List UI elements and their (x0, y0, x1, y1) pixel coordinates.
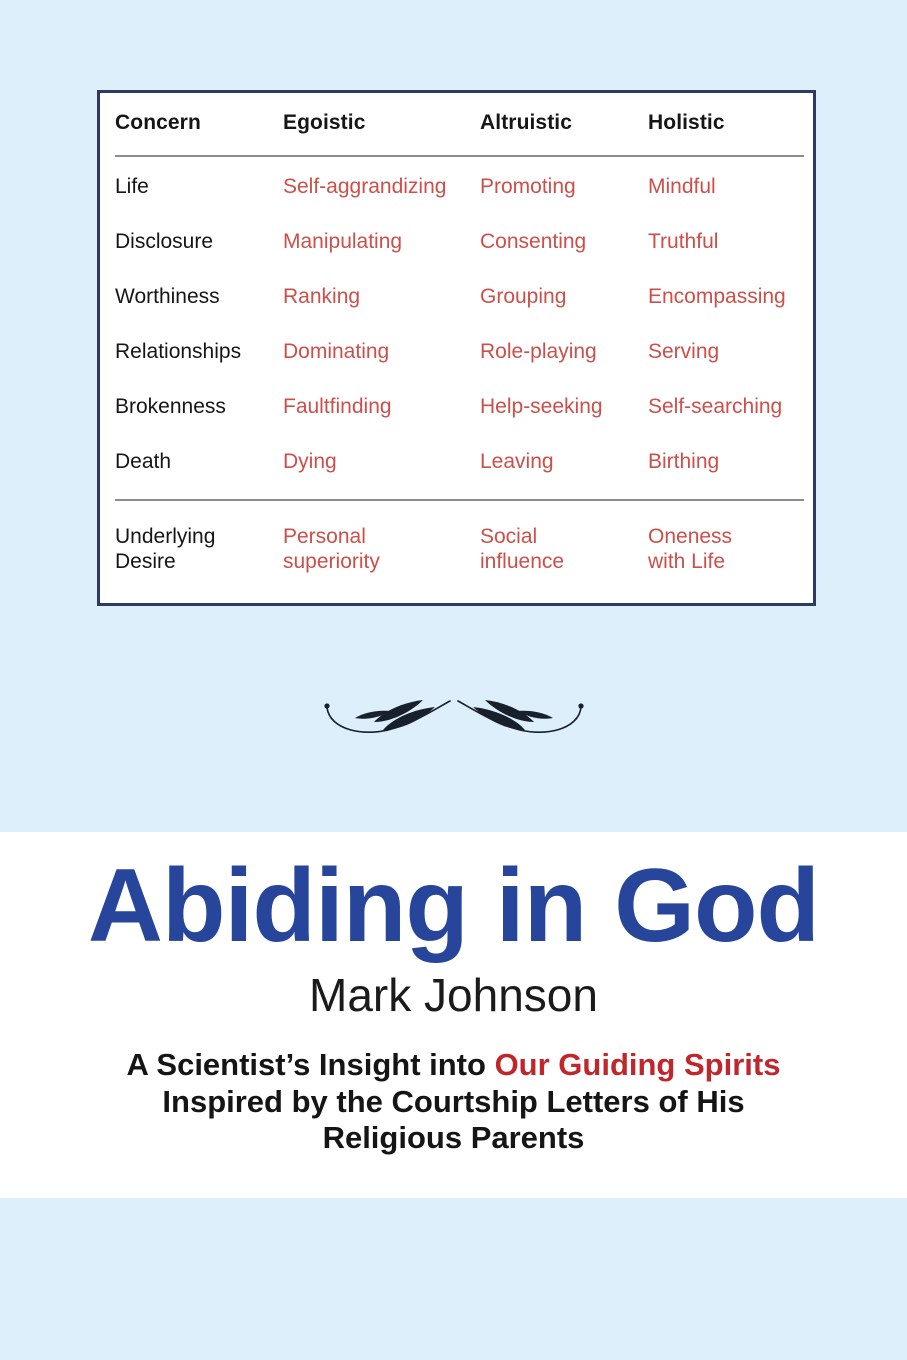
table-row: Disclosure Manipulating Consenting Truth… (100, 230, 813, 284)
table-header-egoistic: Egoistic (283, 111, 483, 136)
cell-egoistic: Manipulating (283, 230, 483, 255)
cell-altruistic: Leaving (480, 450, 650, 475)
cell-holistic: Truthful (648, 230, 818, 255)
cell-egoistic: Ranking (283, 285, 483, 310)
table-header-altruistic: Altruistic (480, 111, 650, 136)
table-row: Worthiness Ranking Grouping Encompassing (100, 285, 813, 339)
cell-holistic: Oneness with Life (648, 525, 818, 575)
title-band: Abiding in God Mark Johnson A Scientist’… (0, 832, 907, 1198)
cell-altruistic: Grouping (480, 285, 650, 310)
table-row: Life Self-aggrandizing Promoting Mindful (100, 175, 813, 229)
table-footer-row: Underlying Desire Personal superiority S… (100, 525, 813, 595)
book-title: Abiding in God (0, 854, 907, 958)
cell-concern: Life (115, 175, 285, 200)
cell-concern: Disclosure (115, 230, 285, 255)
cell-holistic: Birthing (648, 450, 818, 475)
cell-egoistic: Personal superiority (283, 525, 483, 575)
cell-holistic: Encompassing (648, 285, 818, 310)
concern-comparison-table: Concern Egoistic Altruistic Holistic Lif… (97, 90, 816, 606)
table-row: Death Dying Leaving Birthing (100, 450, 813, 504)
subtitle-line1-pre: A Scientist’s Insight into (127, 1047, 495, 1082)
author-name: Mark Johnson (0, 972, 907, 1018)
subtitle-line1-highlight: Our Guiding Spirits (495, 1047, 781, 1082)
cell-altruistic: Social influence (480, 525, 650, 575)
cell-egoistic: Dominating (283, 340, 483, 365)
table-row: Relationships Dominating Role-playing Se… (100, 340, 813, 394)
cell-altruistic: Role-playing (480, 340, 650, 365)
cell-altruistic: Help-seeking (480, 395, 650, 420)
cell-concern: Worthiness (115, 285, 285, 310)
cover-bottom-panel (0, 1198, 907, 1360)
cell-egoistic: Self-aggrandizing (283, 175, 483, 200)
cell-concern: Death (115, 450, 285, 475)
cell-egoistic: Dying (283, 450, 483, 475)
table-header-divider (115, 155, 804, 157)
table-footer-divider (115, 499, 804, 501)
cell-concern: Brokenness (115, 395, 285, 420)
table-header-concern: Concern (115, 111, 285, 136)
cell-altruistic: Consenting (480, 230, 650, 255)
cell-concern: Relationships (115, 340, 285, 365)
cell-holistic: Self-searching (648, 395, 818, 420)
subtitle-line2: Inspired by the Courtship Letters of His (162, 1084, 744, 1119)
book-subtitle: A Scientist’s Insight into Our Guiding S… (0, 1047, 907, 1157)
table-header-holistic: Holistic (648, 111, 818, 136)
cell-altruistic: Promoting (480, 175, 650, 200)
cell-holistic: Mindful (648, 175, 818, 200)
cell-holistic: Serving (648, 340, 818, 365)
cell-concern: Underlying Desire (115, 525, 285, 575)
subtitle-line3: Religious Parents (323, 1120, 585, 1155)
cover-top-panel: Concern Egoistic Altruistic Holistic Lif… (0, 0, 907, 832)
table-row: Brokenness Faultfinding Help-seeking Sel… (100, 395, 813, 449)
floral-flourish-divider-icon (319, 678, 589, 748)
cell-egoistic: Faultfinding (283, 395, 483, 420)
